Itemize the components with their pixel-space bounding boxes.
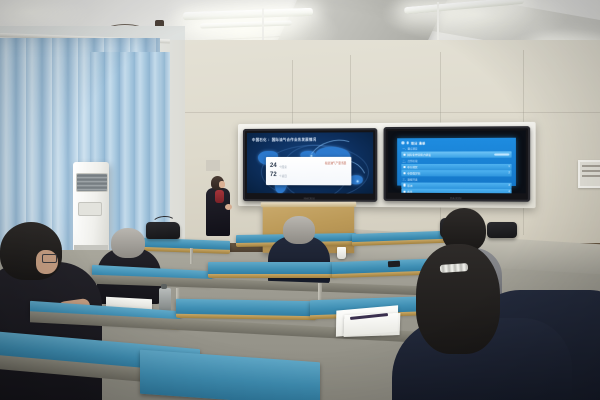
- list-row-bar: [495, 153, 510, 155]
- presenter-scarf: [215, 190, 224, 203]
- list-row-label: 中东地区: [407, 165, 418, 169]
- world-map-slide: 中国石化 ：国际油气合作业务发展情况: [247, 132, 373, 193]
- list-row-label: 中亚俄罗斯: [407, 171, 420, 175]
- list-row-value: 1: [508, 165, 509, 168]
- presenter-head: [211, 176, 224, 190]
- ac-control-panel[interactable]: [78, 202, 102, 216]
- list-row-label: 非洲: [407, 183, 412, 187]
- left-display-brand: HAIXIN: [304, 197, 315, 200]
- list-row-value: 4: [508, 191, 509, 194]
- list-header-label: 项目 清单: [411, 141, 426, 145]
- phone[interactable]: [388, 261, 400, 268]
- slide-title: 中国石化 ：国际油气合作业务发展情况: [252, 137, 317, 142]
- doc-icon: [403, 184, 406, 187]
- presenter-body: [206, 188, 230, 236]
- air-conditioner-unit[interactable]: [73, 162, 109, 252]
- list-row[interactable]: 非洲 3: [401, 182, 512, 188]
- menu-icon: [401, 142, 404, 145]
- list-slide: 项目 清单 一、重点项目 国际化经营能力建设 二、合作区块: [388, 130, 526, 193]
- list-row[interactable]: 南美 4: [401, 189, 512, 194]
- menu-icon: [406, 142, 409, 145]
- list-group-label: 三、勘探开发: [399, 177, 513, 182]
- desk-mid-center[interactable]: [208, 262, 336, 275]
- doc-icon: [403, 153, 406, 156]
- presenter-face: [219, 181, 225, 188]
- stats-note: 权益油气产量当量: [325, 161, 346, 165]
- lectern-top: [261, 202, 356, 207]
- wall-seam-horizontal: [175, 112, 600, 113]
- doc-icon: [403, 166, 406, 169]
- right-display-panel: 项目 清单 一、重点项目 国际化经营能力建设 二、合作区块: [388, 130, 526, 193]
- wall-outlet-panel[interactable]: [578, 160, 600, 188]
- desk-leg: [190, 248, 193, 264]
- list-row[interactable]: 中亚俄罗斯 2: [401, 170, 512, 176]
- attendee-mid-left-head: [111, 228, 145, 258]
- list-container: 项目 清单 一、重点项目 国际化经营能力建设 二、合作区块: [397, 137, 516, 186]
- attendee-front-left-body: [0, 262, 102, 400]
- stat-value-projects: 72: [270, 172, 277, 178]
- display-housing: 中国石化 ：国际油气合作业务发展情况: [238, 122, 536, 208]
- list-row-value: 3: [508, 184, 509, 187]
- wall-switch-box[interactable]: [206, 160, 220, 171]
- doc-icon: [403, 190, 406, 193]
- doc-icon: [403, 172, 406, 175]
- map-marker-dot: [357, 180, 359, 182]
- stat-label-countries: 个国家: [279, 165, 287, 169]
- right-display-brand: HAIXIN: [450, 197, 462, 200]
- list-group-label: 二、合作区块: [399, 158, 513, 163]
- list-row-label: 国际化经营能力建设: [407, 153, 431, 157]
- presenter-hand: [225, 204, 232, 210]
- stat-value-countries: 24: [270, 163, 277, 169]
- right-display[interactable]: 项目 清单 一、重点项目 国际化经营能力建设 二、合作区块: [384, 126, 531, 202]
- paper-cup[interactable]: [337, 247, 346, 259]
- list-row-value: 2: [508, 172, 509, 175]
- attendee-front-right-head: [416, 244, 500, 354]
- list-row-label: 南美: [407, 190, 412, 194]
- black-bag-rear[interactable]: [487, 222, 517, 238]
- classroom-scene: 中国石化 ：国际油气合作业务发展情况: [0, 0, 600, 400]
- left-display[interactable]: 中国石化 ：国际油气合作业务发展情况: [243, 128, 377, 202]
- stat-label-projects: 个项目: [279, 174, 287, 178]
- list-row[interactable]: 中东地区 1: [401, 164, 512, 170]
- desk-edge: [208, 274, 336, 278]
- eyeglasses: [42, 254, 57, 263]
- water-bottle[interactable]: [159, 288, 171, 312]
- attendee-center-head: [283, 216, 315, 244]
- bottle-cap: [161, 284, 167, 289]
- desk-front-center[interactable]: [176, 299, 316, 317]
- ac-vent-icon: [76, 173, 108, 192]
- list-row[interactable]: 国际化经营能力建设: [401, 152, 512, 158]
- list-group-label: 一、重点项目: [399, 146, 513, 152]
- left-display-panel: 中国石化 ：国际油气合作业务发展情况: [247, 132, 373, 193]
- stats-card: 24 个国家 72 个项目 权益油气产量当量: [266, 157, 351, 186]
